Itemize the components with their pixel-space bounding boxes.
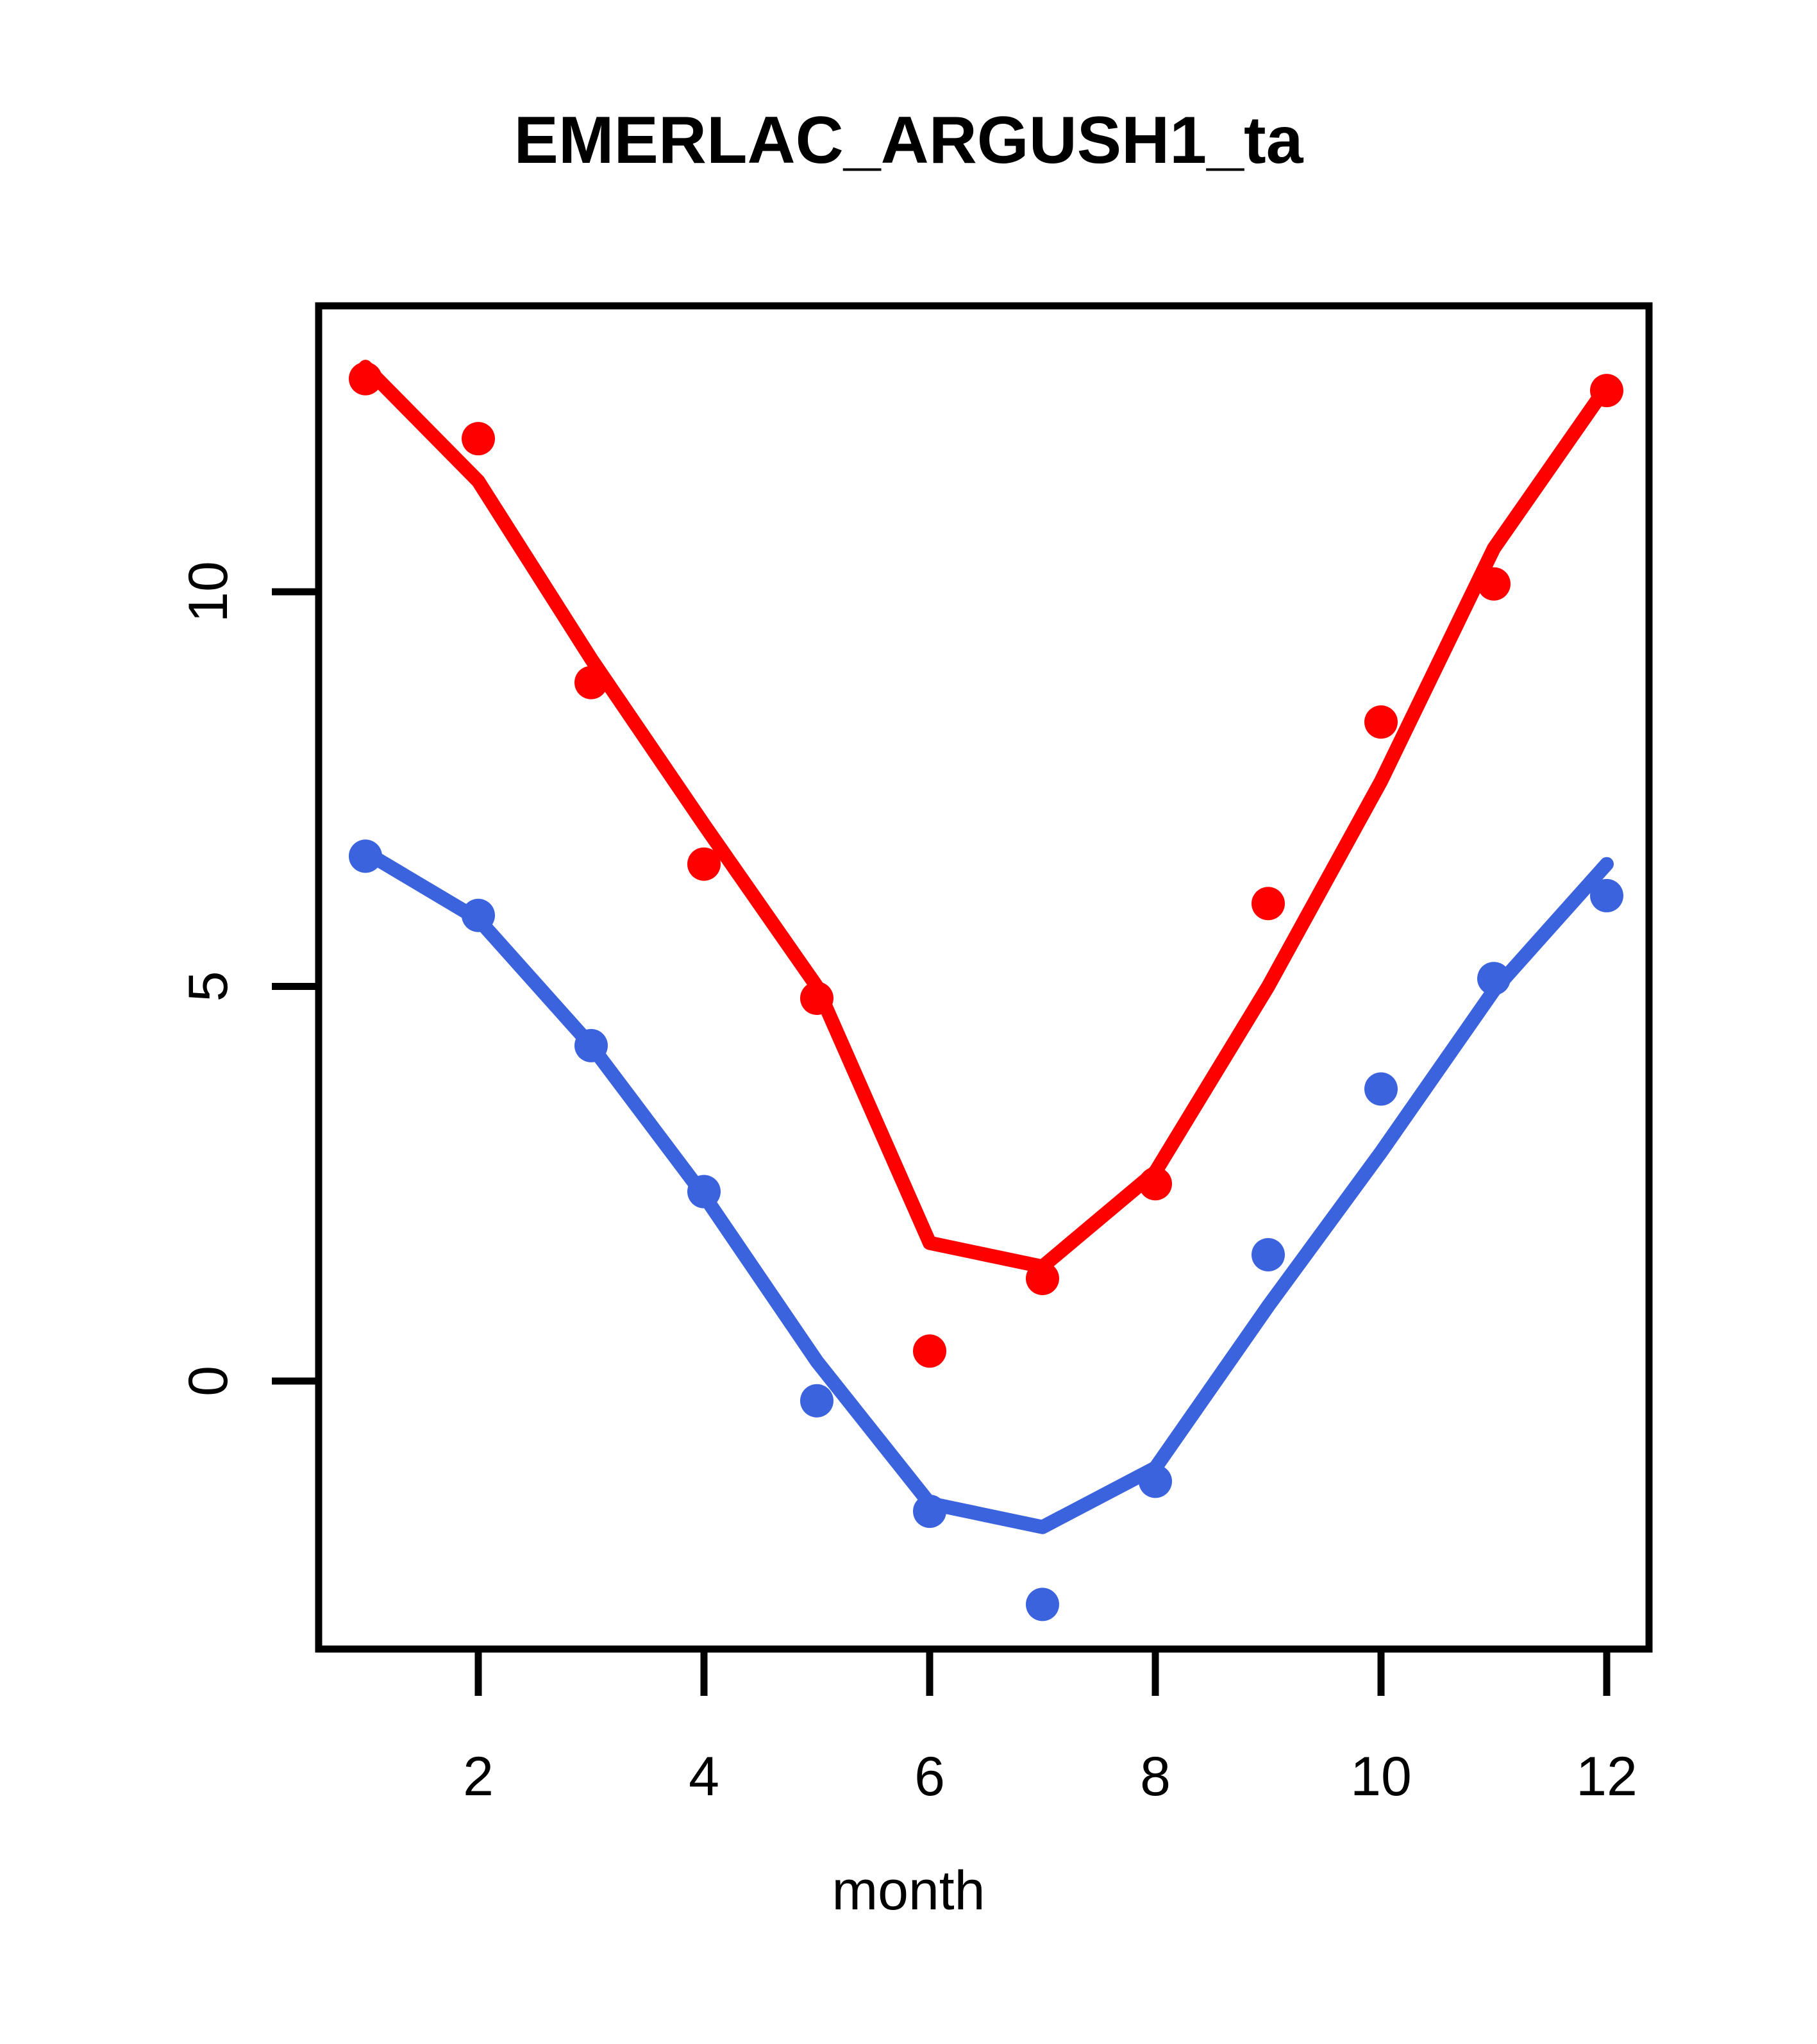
x-tick-label: 10 (1350, 1746, 1412, 1807)
series-points-red-observations (349, 362, 1623, 1368)
data-point (1364, 705, 1398, 739)
data-point (349, 839, 382, 873)
plot-panel-border (319, 306, 1649, 1649)
series-line-blue-line (365, 852, 1607, 1527)
x-tick-label: 2 (463, 1746, 494, 1807)
r-plot-figure: EMERLAC_ARGUSH1_ta month 24681012 0510 (0, 0, 1817, 2044)
data-point (913, 1334, 946, 1368)
x-tick-label: 12 (1576, 1746, 1637, 1807)
data-point (800, 982, 833, 1015)
x-axis-ticks: 24681012 (463, 1649, 1637, 1807)
data-point (800, 1384, 833, 1418)
chart-canvas: 24681012 0510 (0, 0, 1817, 2044)
data-point (1252, 887, 1285, 920)
data-point (1026, 1262, 1059, 1295)
series-line-red-line (365, 367, 1607, 1266)
data-point (1026, 1587, 1059, 1621)
y-axis-ticks: 0510 (178, 561, 319, 1396)
data-point (1364, 1073, 1398, 1106)
data-point (1477, 567, 1511, 601)
data-point (462, 899, 495, 932)
x-tick-label: 6 (914, 1746, 945, 1807)
data-point (574, 1029, 608, 1062)
data-point (687, 848, 721, 881)
data-point (1139, 1167, 1172, 1200)
data-point (462, 422, 495, 455)
data-point (1139, 1464, 1172, 1498)
data-point (1477, 962, 1511, 995)
y-tick-label: 0 (178, 1366, 239, 1396)
data-point (349, 362, 382, 396)
y-tick-label: 10 (178, 561, 239, 623)
x-tick-label: 8 (1140, 1746, 1171, 1807)
data-point (913, 1495, 946, 1528)
series-points-blue-observations (349, 839, 1623, 1621)
y-tick-label: 5 (178, 971, 239, 1002)
data-point (574, 666, 608, 699)
data-point (1590, 879, 1623, 912)
x-tick-label: 4 (689, 1746, 719, 1807)
data-series-layer (349, 362, 1623, 1621)
data-point (1590, 374, 1623, 407)
data-point (1252, 1238, 1285, 1271)
data-point (687, 1175, 721, 1209)
